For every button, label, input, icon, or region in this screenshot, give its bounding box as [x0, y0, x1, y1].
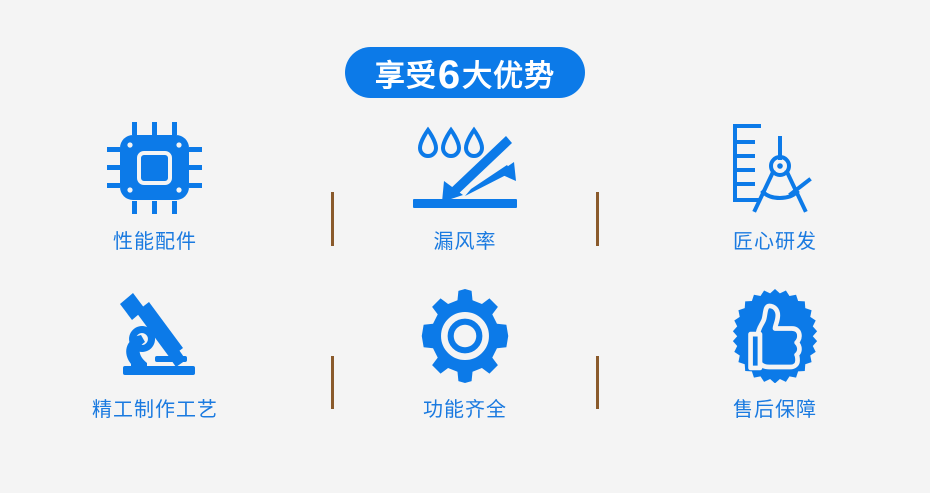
heading-badge-wrapper: 享受6大优势 [0, 47, 930, 98]
feature-item-craftsmanship[interactable]: 精工制作工艺 [0, 286, 310, 454]
feature-label: 精工制作工艺 [92, 400, 218, 420]
heading-badge-text: 享受6大优势 [375, 53, 555, 93]
ruler-compass-icon [729, 118, 821, 218]
heading-number: 6 [437, 55, 462, 95]
column-divider-left [331, 192, 334, 246]
feature-item-after-sales[interactable]: 售后保障 [620, 286, 930, 454]
thumbs-up-badge-icon [728, 286, 822, 386]
feature-grid: 性能配件 [0, 118, 930, 454]
air-leakage-droplets-icon [413, 118, 517, 218]
feature-item-air-leakage[interactable]: 漏风率 [310, 118, 620, 286]
promo-feature-banner: 享受6大优势 [0, 0, 930, 493]
feature-item-performance-parts[interactable]: 性能配件 [0, 118, 310, 286]
feature-row-2: 精工制作工艺 功能齐全 [0, 286, 930, 454]
feature-row-1: 性能配件 [0, 118, 930, 286]
column-divider-right [596, 356, 599, 409]
heading-badge: 享受6大优势 [345, 47, 585, 98]
feature-label: 匠心研发 [733, 232, 817, 252]
feature-label: 性能配件 [113, 232, 197, 252]
feature-label: 功能齐全 [423, 400, 507, 420]
column-divider-left [331, 356, 334, 409]
feature-label: 漏风率 [434, 232, 497, 252]
heading-prefix: 享受 [375, 62, 437, 92]
cpu-chip-icon [107, 118, 203, 218]
feature-item-rnd[interactable]: 匠心研发 [620, 118, 930, 286]
heading-suffix: 大优势 [462, 62, 555, 92]
gear-icon [418, 286, 512, 386]
feature-item-full-function[interactable]: 功能齐全 [310, 286, 620, 454]
feature-label: 售后保障 [733, 400, 817, 420]
microscope-icon [107, 286, 203, 386]
column-divider-right [596, 192, 599, 246]
